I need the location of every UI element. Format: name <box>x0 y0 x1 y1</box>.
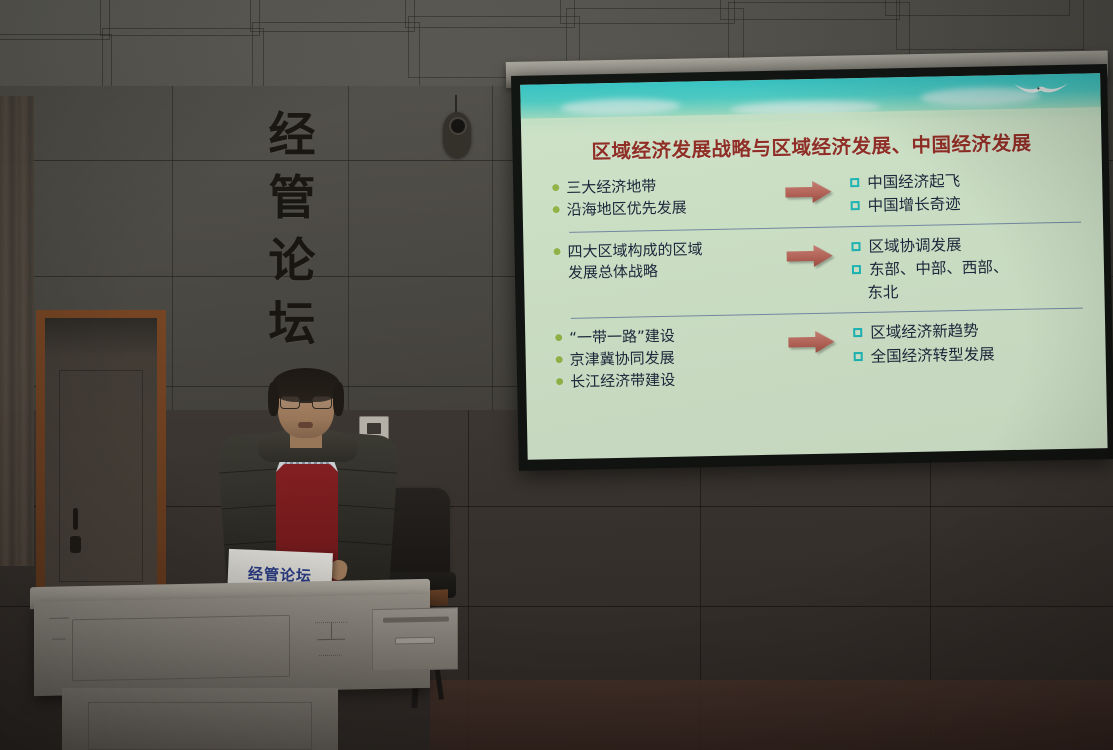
outcome-label: 区域经济新趋势 <box>870 320 979 345</box>
outcome-label: 中国经济起飞 <box>867 170 960 195</box>
outcome-label: 东部、中部、西部、 <box>869 256 1009 282</box>
slide-row-left: 四大区域构成的区域 发展总体战略 <box>553 235 768 285</box>
slide-row: “一带一路”建设 京津冀协同发展 长江经济带建设 <box>555 316 1090 394</box>
door-lock-icon[interactable] <box>70 536 81 553</box>
bullet-dot-icon <box>555 334 562 341</box>
lectern-base <box>62 688 338 750</box>
lectern-etched-panel <box>72 615 290 682</box>
outcome-label: 东北 <box>867 281 898 305</box>
bullet-dot-icon <box>552 184 559 191</box>
bullet-dot-icon <box>556 378 563 385</box>
right-arrow-icon <box>785 181 831 204</box>
bullet-label: 三大经济地带 <box>566 176 656 200</box>
drawer-slot <box>383 616 449 622</box>
bullet-label: 沿海地区优先发展 <box>566 197 686 221</box>
wall-char-4: 坛 <box>269 301 316 348</box>
entry-door[interactable] <box>36 310 166 600</box>
slide-row-left: “一带一路”建设 京津冀协同发展 长江经济带建设 <box>555 322 770 394</box>
lecture-hall-photo: 经 管 论 坛 <box>0 0 1113 750</box>
outcome-label: 全国经济转型发展 <box>870 343 994 369</box>
outcome-item-continuation: 东北 <box>852 277 1088 305</box>
outcome-item: 全国经济转型发展 <box>853 341 1089 369</box>
square-bullet-icon <box>850 178 859 187</box>
lectern-body[interactable] <box>34 594 430 696</box>
wall-char-2: 管 <box>269 175 316 222</box>
drawer-pull-handle[interactable] <box>395 637 435 645</box>
bullet-item-continuation: 发展总体战略 <box>554 259 768 285</box>
floor-strip <box>430 680 1113 750</box>
bullet-dot-icon <box>553 206 560 213</box>
bullet-dot-icon <box>556 356 563 363</box>
square-bullet-icon <box>854 351 863 360</box>
screen-border: 区域经济发展战略与区域经济发展、中国经济发展 三大经济地带 沿海地区优先发展 <box>511 64 1113 471</box>
outcome-label: 中国增长奇迹 <box>867 193 960 218</box>
square-bullet-icon <box>851 201 860 210</box>
bullet-label: 京津冀协同发展 <box>570 348 675 372</box>
wall-char-1: 经 <box>269 112 316 159</box>
lectern-logo-icon <box>310 621 352 656</box>
door-handle-icon[interactable] <box>73 508 78 530</box>
slide-row-arrow <box>767 234 852 268</box>
outcome-label: 区域协调发展 <box>868 233 961 258</box>
slide-row-left: 三大经济地带 沿海地区优先发展 <box>552 172 767 222</box>
slide-row-right: 中国经济起飞 中国增长奇迹 <box>850 165 1087 218</box>
bullet-label: “一带一路”建设 <box>569 326 675 350</box>
right-arrow-icon <box>788 331 834 354</box>
slide-row: 四大区域构成的区域 发展总体战略 <box>553 229 1088 311</box>
slide-row-right: 区域经济新趋势 全国经济转型发展 <box>853 316 1090 369</box>
presentation-slide: 区域经济发展战略与区域经济发展、中国经济发展 三大经济地带 沿海地区优先发展 <box>520 73 1107 460</box>
square-bullet-icon <box>853 328 862 337</box>
slide-row-arrow <box>769 320 854 354</box>
slide-row: 三大经济地带 沿海地区优先发展 <box>552 165 1087 224</box>
seagull-icon <box>1012 79 1070 100</box>
wall-forum-title: 经 管 论 坛 <box>254 112 330 348</box>
glasses-icon <box>280 396 332 409</box>
projection-screen: 区域经济发展战略与区域经济发展、中国经济发展 三大经济地带 沿海地区优先发展 <box>511 64 1113 471</box>
bullet-label: 四大区域构成的区域 <box>567 239 702 263</box>
right-arrow-icon <box>786 244 832 267</box>
bullet-dot-icon <box>553 248 560 255</box>
slide-row-right: 区域协调发展 东部、中部、西部、 东北 <box>851 229 1088 305</box>
slide-row-arrow <box>766 170 851 204</box>
lectern-logo-small-icon <box>46 617 72 640</box>
square-bullet-icon <box>851 242 860 251</box>
bullet-label: 发展总体战略 <box>568 261 658 285</box>
outcome-item: 中国增长奇迹 <box>850 191 1086 219</box>
square-bullet-icon <box>852 265 861 274</box>
slide-content-rows: 三大经济地带 沿海地区优先发展 <box>552 165 1090 393</box>
bullet-item: 沿海地区优先发展 <box>552 196 766 222</box>
bullet-item: 长江经济带建设 <box>556 368 770 394</box>
bullet-label: 长江经济带建设 <box>570 370 675 394</box>
bullet-spacer <box>554 269 561 276</box>
mouth <box>298 422 313 428</box>
wall-char-3: 论 <box>269 238 316 285</box>
door-leaf <box>45 318 157 600</box>
lectern-base-trim <box>88 702 312 750</box>
outcome-spacer <box>852 288 859 295</box>
lectern-drawer[interactable] <box>372 607 458 671</box>
curtain <box>0 96 34 566</box>
camera-lens-icon <box>449 117 467 135</box>
